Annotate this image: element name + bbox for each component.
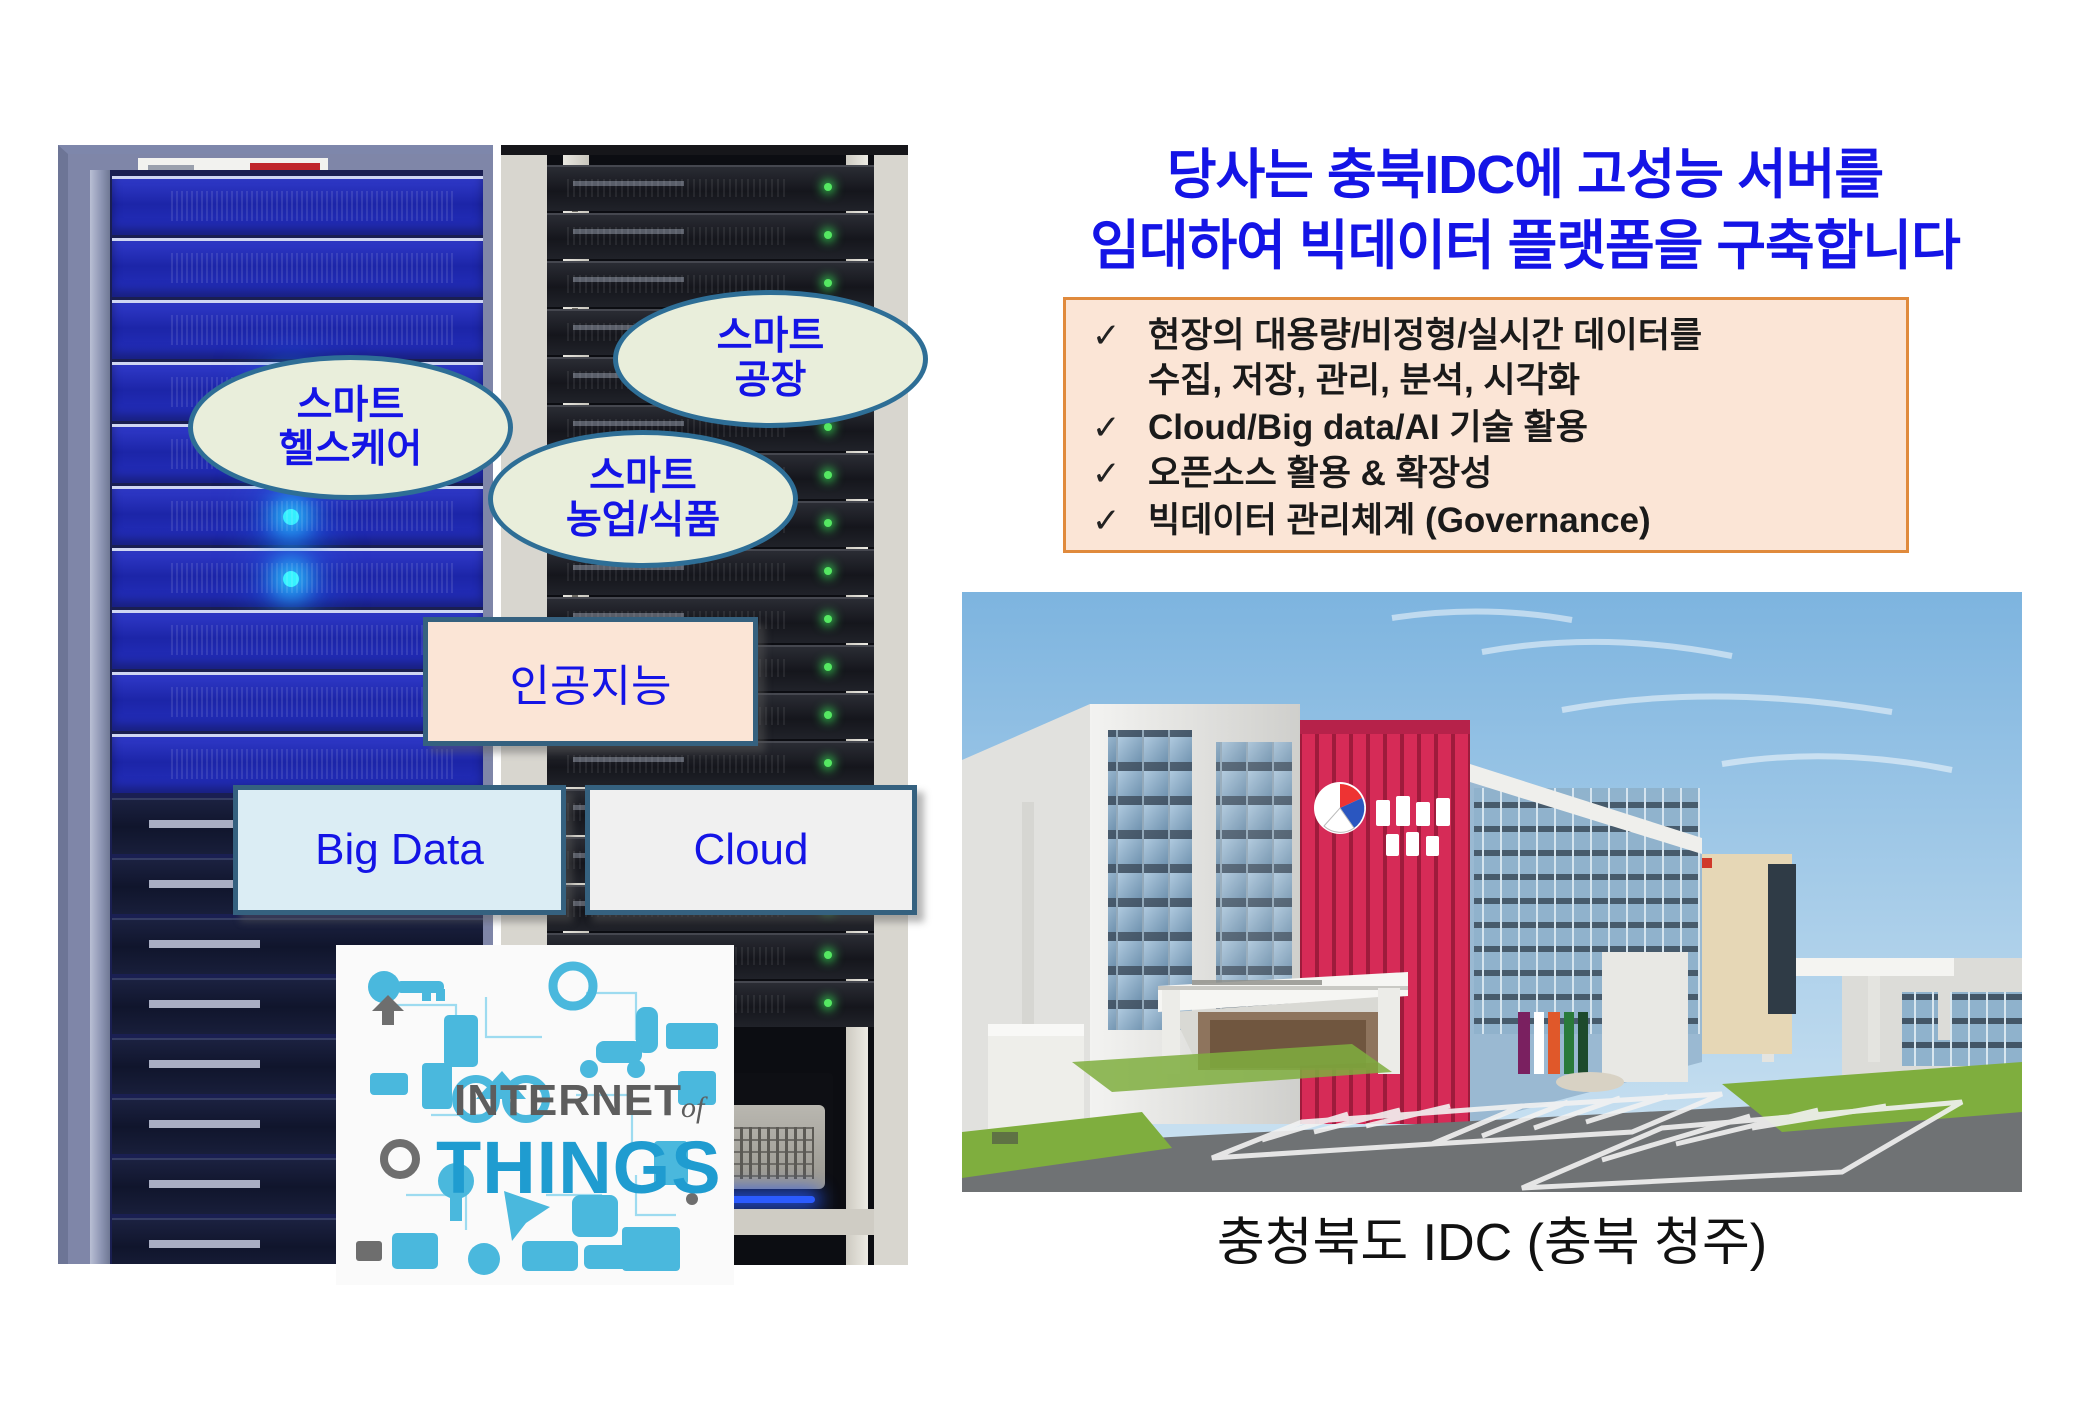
status-led — [824, 759, 832, 767]
check-icon: ✓ — [1092, 499, 1148, 544]
status-led — [824, 279, 832, 287]
iot-line1: INTERNET — [454, 1076, 682, 1125]
status-led — [824, 711, 832, 719]
guard-house — [988, 1032, 1084, 1132]
server-unit — [547, 741, 874, 787]
callout-smart-factory[interactable]: 스마트 공장 — [613, 290, 928, 428]
callout-label: 스마트 공장 — [717, 315, 825, 402]
box-label: Cloud — [694, 825, 809, 875]
callout-label: 스마트 헬스케어 — [279, 384, 423, 471]
server-rack-photo: 스마트 헬스케어 스마트 공장 스마트 농업/식품 인공지능 Big Data … — [58, 145, 908, 1255]
headline-line-1: 당사는 충북IDC에 고성능 서버를 — [1020, 140, 2030, 211]
headline-line-2: 임대하여 빅데이터 플랫폼을 구축합니다 — [1020, 211, 2030, 282]
status-led — [824, 183, 832, 191]
server-unit — [547, 213, 874, 259]
status-led — [824, 231, 832, 239]
bullet-text: Cloud/Big data/AI 기술 활용 — [1148, 406, 1588, 451]
building-caption: 충청북도 IDC (충북 청주) — [962, 1200, 2022, 1275]
bullet-item: ✓ Cloud/Big data/AI 기술 활용 — [1066, 406, 1906, 453]
server-unit — [112, 238, 483, 297]
rack-left-rail — [90, 170, 110, 1264]
status-led — [824, 471, 832, 479]
box-artificial-intelligence[interactable]: 인공지능 — [423, 617, 758, 746]
bullet-text: 빅데이터 관리체계 (Governance) — [1148, 499, 1651, 544]
box-label: Big Data — [315, 825, 484, 875]
bullet-item: ✓ 빅데이터 관리체계 (Governance) — [1066, 499, 1906, 546]
server-unit — [112, 300, 483, 359]
box-big-data[interactable]: Big Data — [233, 785, 566, 915]
internet-of-things-graphic: INTERNET of THINGS — [336, 945, 734, 1285]
box-label: 인공지능 — [510, 650, 672, 714]
bullet-item: ✓ 오픈소스 활용 & 확장성 — [1066, 452, 1906, 499]
status-led — [824, 999, 832, 1007]
status-led — [283, 509, 299, 525]
server-unit — [547, 165, 874, 211]
bullet-text: 오픈소스 활용 & 확장성 — [1148, 452, 1492, 497]
callout-smart-healthcare[interactable]: 스마트 헬스케어 — [188, 355, 513, 500]
planter — [1556, 1072, 1624, 1092]
status-led — [824, 423, 832, 431]
bullet-text: 현장의 대용량/비정형/실시간 데이터를 수집, 저장, 관리, 분석, 시각화 — [1148, 314, 1702, 404]
status-led — [283, 571, 299, 587]
check-icon: ✓ — [1092, 406, 1148, 451]
idc-building-photo — [962, 592, 2022, 1192]
check-icon: ✓ — [1092, 314, 1148, 359]
iot-line2: THINGS — [436, 1126, 722, 1209]
server-unit — [112, 176, 483, 235]
server-unit — [112, 548, 483, 607]
status-led — [824, 663, 832, 671]
page-title: 당사는 충북IDC에 고성능 서버를 임대하여 빅데이터 플랫폼을 구축합니다 — [1020, 140, 2030, 283]
status-led — [824, 615, 832, 623]
status-led — [824, 951, 832, 959]
bullet-item: ✓ 현장의 대용량/비정형/실시간 데이터를 수집, 저장, 관리, 분석, 시… — [1066, 314, 1906, 406]
callout-smart-agriculture[interactable]: 스마트 농업/식품 — [488, 430, 798, 568]
feature-bullet-box: ✓ 현장의 대용량/비정형/실시간 데이터를 수집, 저장, 관리, 분석, 시… — [1063, 297, 1909, 553]
status-led — [824, 519, 832, 527]
box-cloud[interactable]: Cloud — [585, 785, 917, 915]
iot-of: of — [681, 1091, 708, 1124]
building-logo — [1314, 782, 1366, 834]
check-icon: ✓ — [1092, 452, 1148, 497]
status-led — [824, 567, 832, 575]
callout-label: 스마트 농업/식품 — [566, 455, 720, 542]
